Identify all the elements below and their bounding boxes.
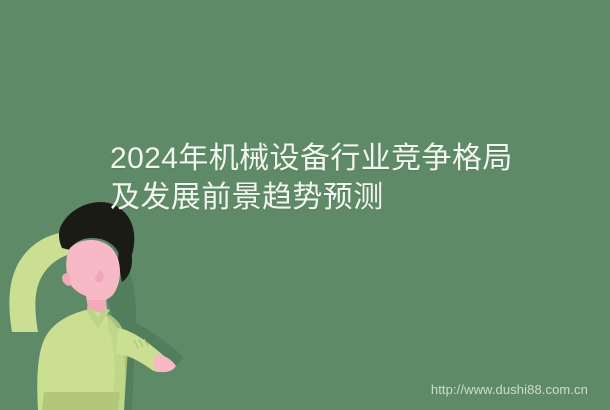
pants: [42, 392, 120, 410]
watermark-url: http://www.dushi88.com.cn: [431, 381, 588, 398]
title-line-2: 及发展前景趋势预测: [110, 178, 580, 217]
title-line-1: 2024年机械设备行业竞争格局: [110, 139, 580, 178]
person-hand-behind-head-illustration: [0, 196, 200, 410]
promo-banner: 2024年机械设备行业竞争格局 及发展前景趋势预测 http://www.dus…: [0, 0, 610, 410]
ear: [62, 273, 70, 286]
page-title: 2024年机械设备行业竞争格局 及发展前景趋势预测: [110, 139, 580, 217]
